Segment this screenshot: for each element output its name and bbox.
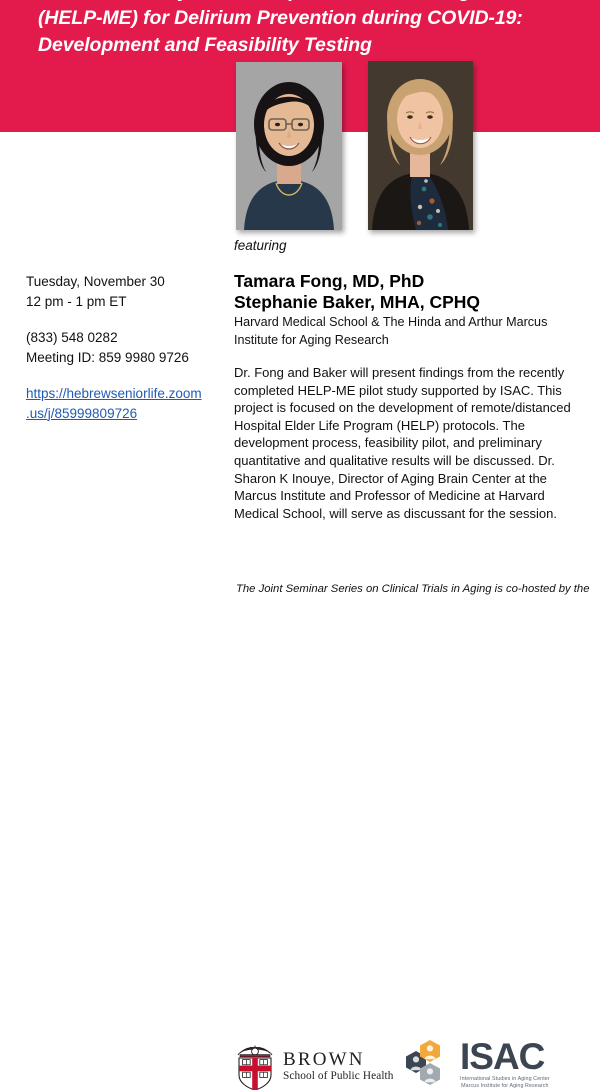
zoom-link-line-2[interactable]: .us/j/85999809726 bbox=[26, 404, 221, 424]
footer-note: The Joint Seminar Series on Clinical Tri… bbox=[236, 582, 596, 596]
banner-title-line-3: Development and Feasibility Testing bbox=[38, 32, 583, 59]
logo-row: BROWN School of Public Health bbox=[0, 518, 600, 580]
event-time: 12 pm - 1 pm ET bbox=[26, 292, 221, 312]
speaker-name-1: Tamara Fong, MD, PhD bbox=[234, 271, 580, 292]
isac-wordmark: ISAC bbox=[460, 1039, 550, 1075]
event-details: Tuesday, November 30 12 pm - 1 pm ET (83… bbox=[26, 272, 221, 423]
brown-wordmark: BROWN bbox=[283, 1050, 394, 1070]
headshot-stephanie-baker bbox=[368, 61, 473, 230]
session-abstract: Dr. Fong and Baker will present findings… bbox=[234, 364, 580, 522]
event-meeting-id: Meeting ID: 859 9980 9726 bbox=[26, 348, 221, 368]
event-date: Tuesday, November 30 bbox=[26, 272, 221, 292]
brown-shield-icon bbox=[234, 1042, 276, 1090]
event-dialin: (833) 548 0282 Meeting ID: 859 9980 9726 bbox=[26, 328, 221, 367]
headshot-tamara-fong bbox=[236, 62, 342, 230]
event-phone: (833) 548 0282 bbox=[26, 328, 221, 348]
isac-people-icon bbox=[404, 1039, 458, 1089]
banner-title: Remote Delivery of the Hospital Elder Li… bbox=[38, 0, 583, 59]
speaker-affiliation-line-1: Harvard Medical School & The Hinda and A… bbox=[234, 315, 580, 331]
zoom-link-line-1[interactable]: https://hebrewseniorlife.zoom bbox=[26, 384, 221, 404]
isac-logo: ISAC International Studies in Aging Cent… bbox=[404, 1039, 550, 1090]
isac-tagline-line-2: Marcus Institute for Aging Research bbox=[460, 1083, 550, 1089]
zoom-link-block[interactable]: https://hebrewseniorlife.zoom .us/j/8599… bbox=[26, 384, 221, 423]
speaker-name-2: Stephanie Baker, MHA, CPHQ bbox=[234, 292, 580, 313]
brown-subtitle: School of Public Health bbox=[283, 1070, 394, 1083]
banner-title-line-2: (HELP-ME) for Delirium Prevention during… bbox=[38, 5, 583, 32]
isac-tagline-line-1: International Studies in Aging Center bbox=[460, 1076, 550, 1082]
brown-logo: BROWN School of Public Health bbox=[234, 1042, 394, 1090]
event-datetime: Tuesday, November 30 12 pm - 1 pm ET bbox=[26, 272, 221, 311]
speaker-affiliation-line-2: Institute for Aging Research bbox=[234, 333, 580, 349]
featuring-label: featuring bbox=[234, 238, 580, 253]
session-info: featuring Tamara Fong, MD, PhD Stephanie… bbox=[234, 238, 580, 522]
